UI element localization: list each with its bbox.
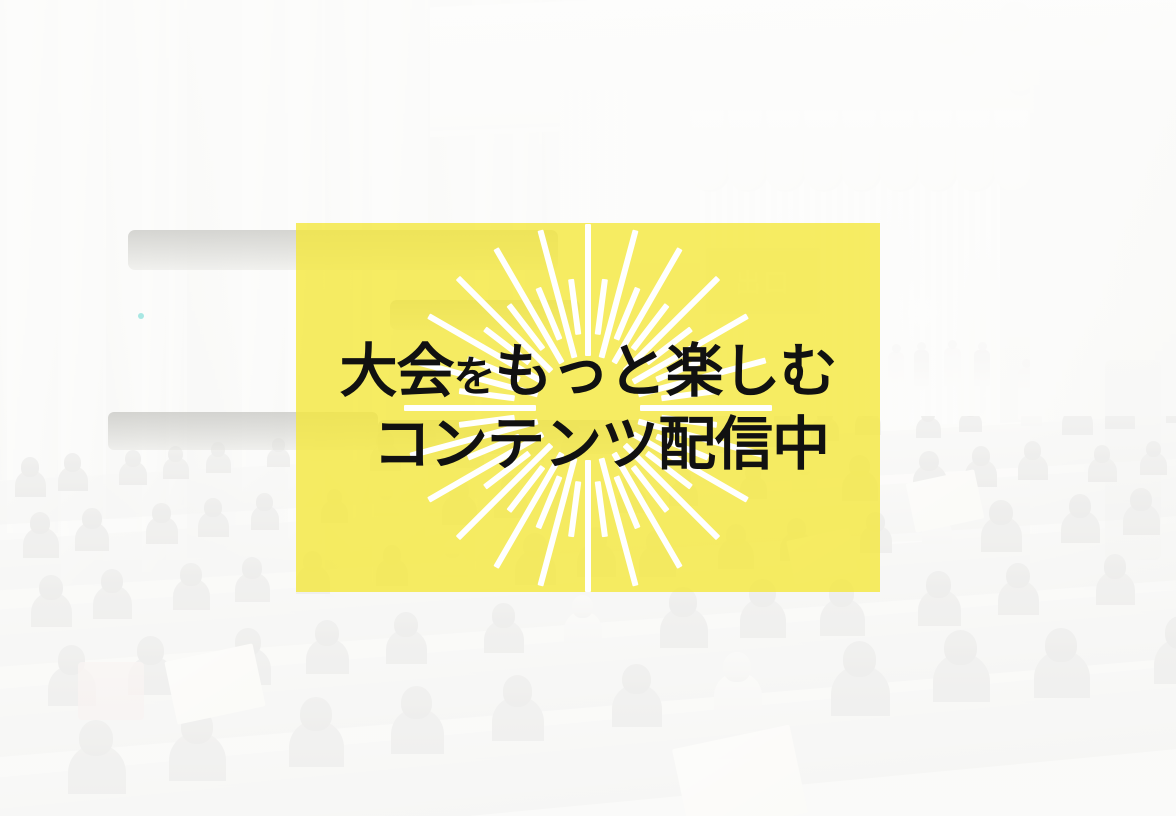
audience-head bbox=[300, 697, 332, 731]
audience-head bbox=[1104, 554, 1127, 578]
audience-head bbox=[180, 563, 201, 586]
audience-head bbox=[256, 493, 272, 511]
audience-head bbox=[21, 457, 39, 476]
ceiling-light-icon bbox=[930, 10, 964, 44]
audience-member bbox=[1105, 416, 1135, 429]
curtain-swag bbox=[880, 108, 920, 192]
performer-head bbox=[978, 342, 987, 351]
curtain-swag bbox=[842, 108, 882, 192]
audience-head bbox=[926, 571, 951, 598]
curtain-swag bbox=[690, 108, 730, 192]
audience-head bbox=[572, 595, 594, 618]
sunburst-ray bbox=[568, 480, 581, 536]
audience-head bbox=[125, 450, 141, 467]
sunburst-ray bbox=[614, 475, 641, 529]
audience-head bbox=[401, 686, 432, 719]
audience-head bbox=[30, 512, 50, 534]
yellow-promo-banner: 大会をもっと楽しむ コンテンツ配信中 bbox=[296, 223, 880, 592]
headline-line1-part3: もっと楽しむ bbox=[495, 338, 837, 403]
audience-head bbox=[394, 612, 418, 637]
audience-head bbox=[82, 508, 101, 529]
audience-head bbox=[972, 446, 990, 466]
audience-head bbox=[152, 503, 170, 523]
audience-head bbox=[39, 575, 62, 600]
banner-headline: 大会をもっと楽しむ コンテンツ配信中 bbox=[296, 341, 880, 473]
audience-member bbox=[1166, 416, 1176, 423]
banner-canvas: 出口 大会をもっと楽しむ コンテンツ配信中 bbox=[0, 0, 1176, 816]
audience-head bbox=[1006, 563, 1030, 588]
audience-head bbox=[492, 603, 515, 627]
audience-member bbox=[959, 416, 982, 432]
headline-line-2: コンテンツ配信中 bbox=[296, 415, 880, 474]
curtain-valance bbox=[690, 108, 1030, 200]
curtain-swag bbox=[956, 108, 996, 192]
red-bag bbox=[78, 662, 144, 720]
audience-head bbox=[242, 557, 262, 579]
wall-panel bbox=[0, 0, 4, 480]
audience-head bbox=[919, 451, 938, 472]
ceiling-light-icon bbox=[1140, 6, 1164, 30]
stage-performer bbox=[974, 350, 990, 386]
audience-head bbox=[944, 630, 977, 665]
curtain-swag bbox=[728, 108, 768, 192]
audience-member bbox=[1062, 416, 1094, 435]
headline-line1-part1: 大会 bbox=[339, 338, 453, 403]
sunburst-ray bbox=[585, 460, 591, 592]
audience-head bbox=[1069, 494, 1091, 518]
performer-head bbox=[917, 342, 926, 351]
curtain-swag bbox=[994, 108, 1034, 192]
stage-performer bbox=[888, 352, 904, 386]
ceiling-light-icon bbox=[960, 40, 976, 56]
ceiling-light-icon bbox=[1000, 2, 1030, 32]
audience-member bbox=[1021, 416, 1042, 426]
curtain-swag bbox=[804, 108, 844, 192]
sunburst-ray bbox=[585, 224, 591, 356]
headline-line-1: 大会をもっと楽しむ bbox=[296, 341, 880, 400]
audience-head bbox=[315, 620, 340, 647]
headline-line1-particle: を bbox=[453, 352, 494, 399]
audience-head bbox=[101, 569, 123, 593]
curtain-swag bbox=[766, 108, 806, 192]
audience-head bbox=[622, 664, 651, 695]
audience-head bbox=[79, 720, 113, 756]
ceiling-light-icon bbox=[1080, 18, 1108, 46]
curtain-swag bbox=[918, 108, 958, 192]
sunburst-ray bbox=[535, 475, 562, 529]
sunburst-ray bbox=[595, 480, 608, 536]
audience-head bbox=[1024, 441, 1041, 460]
audience-head bbox=[1146, 441, 1161, 458]
indicator-light bbox=[138, 313, 144, 319]
stage-performer bbox=[914, 350, 929, 386]
audience-head bbox=[137, 636, 164, 665]
audience-head bbox=[64, 453, 81, 471]
audience-head bbox=[1045, 628, 1077, 662]
performer-head bbox=[892, 344, 901, 353]
audience-head bbox=[723, 652, 751, 682]
audience-head bbox=[1094, 445, 1110, 463]
sunburst-ray bbox=[595, 278, 608, 334]
sunburst-ray bbox=[535, 286, 562, 340]
audience-head bbox=[843, 641, 877, 677]
sunburst-ray bbox=[614, 286, 641, 340]
audience-head bbox=[204, 498, 221, 517]
audience-head bbox=[503, 675, 533, 707]
audience-head bbox=[1130, 488, 1151, 511]
performer-head bbox=[948, 340, 957, 349]
audience-head bbox=[989, 500, 1012, 525]
stage-performer bbox=[944, 348, 961, 386]
sunburst-ray bbox=[568, 278, 581, 334]
